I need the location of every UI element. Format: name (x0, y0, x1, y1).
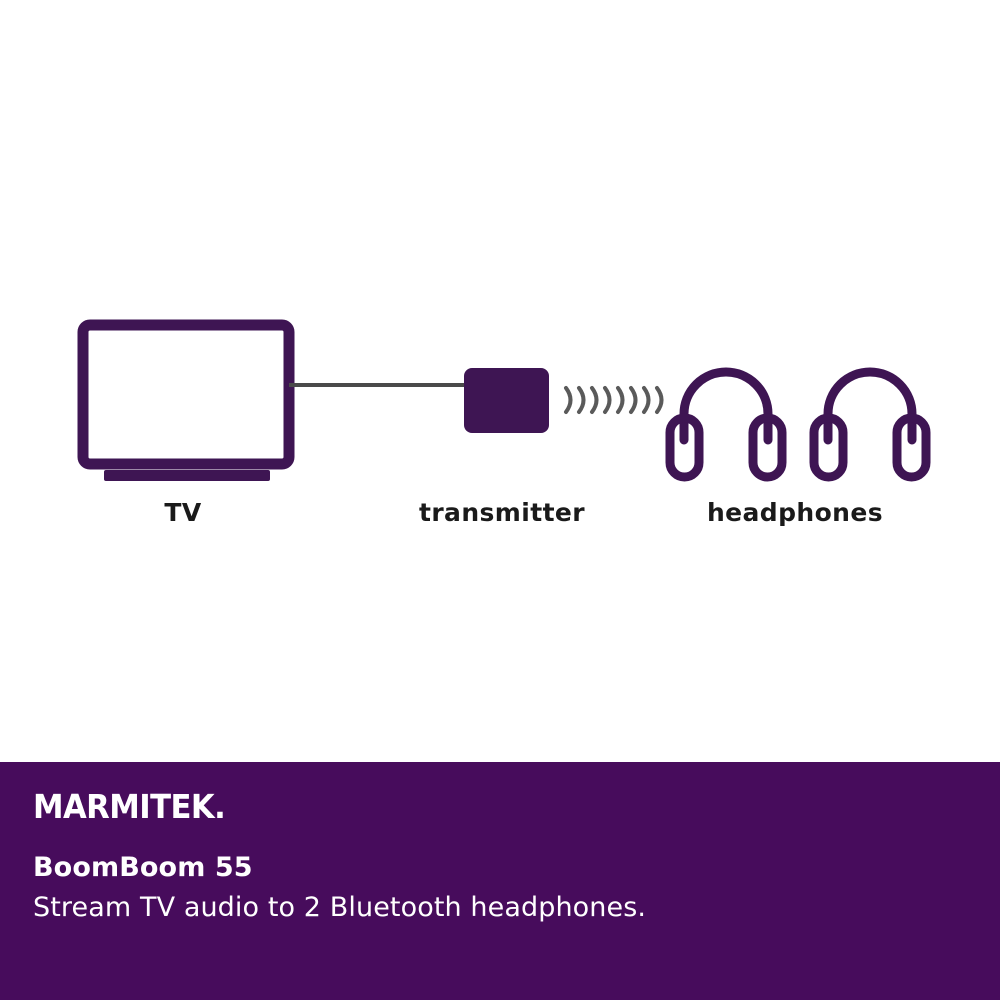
tv-screen-frame (83, 325, 289, 464)
product-tagline: Stream TV audio to 2 Bluetooth headphone… (33, 890, 1000, 925)
signal-arc (631, 388, 636, 412)
transmitter-box-icon (464, 368, 549, 433)
signal-arc (644, 388, 649, 412)
signal-arc (605, 388, 610, 412)
brand-banner: MARMITEK. BoomBoom 55 Stream TV audio to… (0, 762, 1000, 1000)
signal-arc (579, 388, 584, 412)
tv-label: TV (164, 498, 201, 527)
marmitek-logo: MARMITEK. (33, 790, 932, 825)
signal-arc (592, 388, 597, 412)
headphones-icon (670, 372, 782, 477)
signal-arc (566, 388, 571, 412)
headphones-icon (814, 372, 926, 477)
wireless-signal-icon (566, 388, 662, 412)
tv-icon (83, 325, 289, 481)
headphones-label: headphones (707, 498, 883, 527)
signal-arc (618, 388, 623, 412)
product-illustration: TV transmitter headphones (0, 0, 1000, 762)
connection-diagram (0, 0, 1000, 762)
transmitter-label: transmitter (419, 498, 585, 527)
signal-arc (657, 388, 662, 412)
product-name: BoomBoom 55 (33, 851, 1000, 885)
tv-stand-base (104, 470, 270, 481)
